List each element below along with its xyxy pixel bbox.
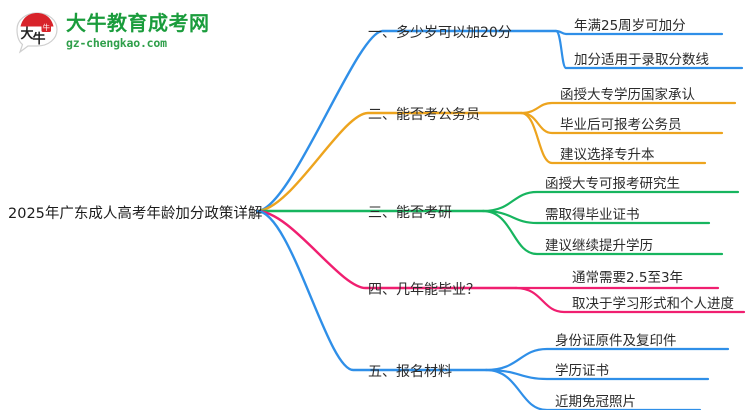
- mindmap-edge: [257, 113, 521, 211]
- mindmap-leaf-label: 建议选择专升本: [560, 143, 655, 163]
- mindmap-branch-label: 二、能否考公务员: [368, 104, 480, 124]
- mindmap-leaf-label: 函授大专可报考研究生: [545, 172, 680, 192]
- mindmap-leaf-label: 身份证原件及复印件: [555, 329, 677, 349]
- mindmap-branch-label: 一、多少岁可以加20分: [368, 22, 512, 42]
- mindmap-leaf-label: 近期免冠照片: [555, 390, 636, 410]
- mindmap-branch-label: 三、能否考研: [368, 202, 452, 222]
- mindmap-leaf-label: 建议继续提升学历: [545, 234, 653, 254]
- mindmap-leaf-label: 学历证书: [555, 359, 609, 379]
- mindmap-leaf-label: 毕业后可报考公务员: [560, 113, 682, 133]
- mindmap-page: 牛 大 牛 大牛教育成考网 gz-chengkao.com 年满25周岁可加分加…: [0, 0, 750, 410]
- mindmap-leaf-label: 加分适用于录取分数线: [574, 48, 709, 68]
- mindmap-root-label: 2025年广东成人高考年龄加分政策详解: [8, 202, 262, 223]
- mindmap-leaf-label: 年满25周岁可加分: [574, 14, 686, 34]
- mindmap-branch-label: 四、几年能毕业？: [368, 279, 480, 299]
- mindmap: 年满25周岁可加分加分适用于录取分数线一、多少岁可以加20分函授大专学历国家承认…: [0, 0, 750, 410]
- mindmap-leaf-label: 函授大专学历国家承认: [560, 83, 695, 103]
- mindmap-edge: [257, 211, 516, 288]
- mindmap-leaf-label: 通常需要2.5至3年: [572, 266, 683, 286]
- mindmap-edge: [521, 103, 735, 113]
- mindmap-leaf-label: 取决于学习形式和个人进度: [572, 292, 734, 312]
- mindmap-leaf-label: 需取得毕业证书: [545, 203, 640, 223]
- mindmap-branch-label: 五、报名材料: [368, 361, 452, 381]
